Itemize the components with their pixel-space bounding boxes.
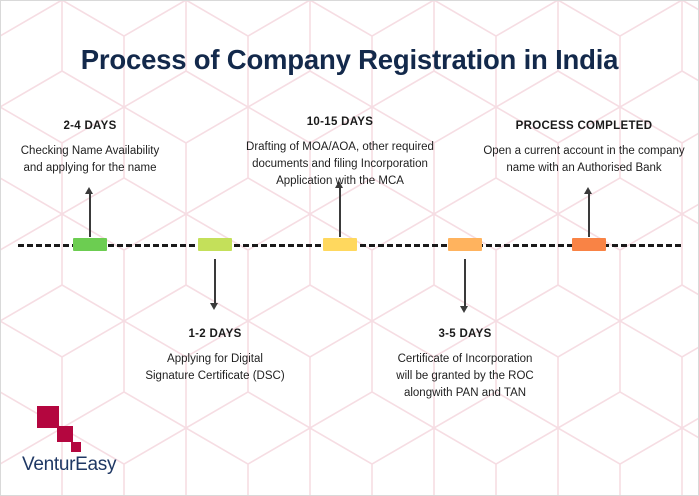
step-4-line-1: Certificate of Incorporation xyxy=(373,351,557,368)
step-5-days: PROCESS COMPLETED xyxy=(470,120,698,132)
step-3: 10-15 DAYS Drafting of MOA/AOA, other re… xyxy=(228,116,452,190)
step-4: 3-5 DAYS Certificate of Incorporation wi… xyxy=(373,328,557,402)
connector-arrow-1 xyxy=(89,193,91,237)
arrow-head-up-1 xyxy=(85,187,93,194)
step-5: PROCESS COMPLETED Open a current account… xyxy=(470,120,698,177)
logo-square-small-icon xyxy=(71,442,81,452)
step-4-description: Certificate of Incorporation will be gra… xyxy=(373,351,557,402)
step-2-days: 1-2 DAYS xyxy=(129,328,301,340)
logo-square-medium-icon xyxy=(57,426,73,442)
timeline-node-2[interactable] xyxy=(198,238,232,251)
step-2-line-1: Applying for Digital xyxy=(129,351,301,368)
connector-arrow-4 xyxy=(464,259,466,306)
step-3-line-1: Drafting of MOA/AOA, other required xyxy=(228,139,452,156)
step-1-days: 2-4 DAYS xyxy=(4,120,176,132)
step-2: 1-2 DAYS Applying for Digital Signature … xyxy=(129,328,301,385)
step-1: 2-4 DAYS Checking Name Availability and … xyxy=(4,120,176,177)
brand-name: VenturEasy xyxy=(22,454,116,476)
logo-square-large-icon xyxy=(37,406,59,428)
step-2-description: Applying for Digital Signature Certifica… xyxy=(129,351,301,385)
infographic-canvas: Process of Company Registration in India… xyxy=(0,0,699,496)
step-3-description: Drafting of MOA/AOA, other required docu… xyxy=(228,139,452,190)
step-1-description: Checking Name Availability and applying … xyxy=(4,143,176,177)
step-3-days: 10-15 DAYS xyxy=(228,116,452,128)
connector-arrow-3 xyxy=(339,187,341,237)
step-2-line-2: Signature Certificate (DSC) xyxy=(129,368,301,385)
step-5-line-1: Open a current account in the company xyxy=(470,143,698,160)
step-5-line-2: name with an Authorised Bank xyxy=(470,160,698,177)
step-3-line-2: documents and filing Incorporation xyxy=(228,156,452,173)
step-1-line-2: and applying for the name xyxy=(4,160,176,177)
timeline-node-5[interactable] xyxy=(572,238,606,251)
timeline-node-1[interactable] xyxy=(73,238,107,251)
step-5-description: Open a current account in the company na… xyxy=(470,143,698,177)
step-4-line-3: alongwith PAN and TAN xyxy=(373,385,557,402)
arrow-head-down-2 xyxy=(210,303,218,310)
timeline-node-3[interactable] xyxy=(323,238,357,251)
step-1-line-1: Checking Name Availability xyxy=(4,143,176,160)
connector-arrow-2 xyxy=(214,259,216,303)
step-4-days: 3-5 DAYS xyxy=(373,328,557,340)
timeline-node-4[interactable] xyxy=(448,238,482,251)
brand-logo[interactable]: VenturEasy xyxy=(22,404,152,482)
arrow-head-down-4 xyxy=(460,306,468,313)
step-3-line-3: Application with the MCA xyxy=(228,173,452,190)
step-4-line-2: will be granted by the ROC xyxy=(373,368,557,385)
arrow-head-up-5 xyxy=(584,187,592,194)
page-title: Process of Company Registration in India xyxy=(0,44,699,76)
connector-arrow-5 xyxy=(588,193,590,237)
